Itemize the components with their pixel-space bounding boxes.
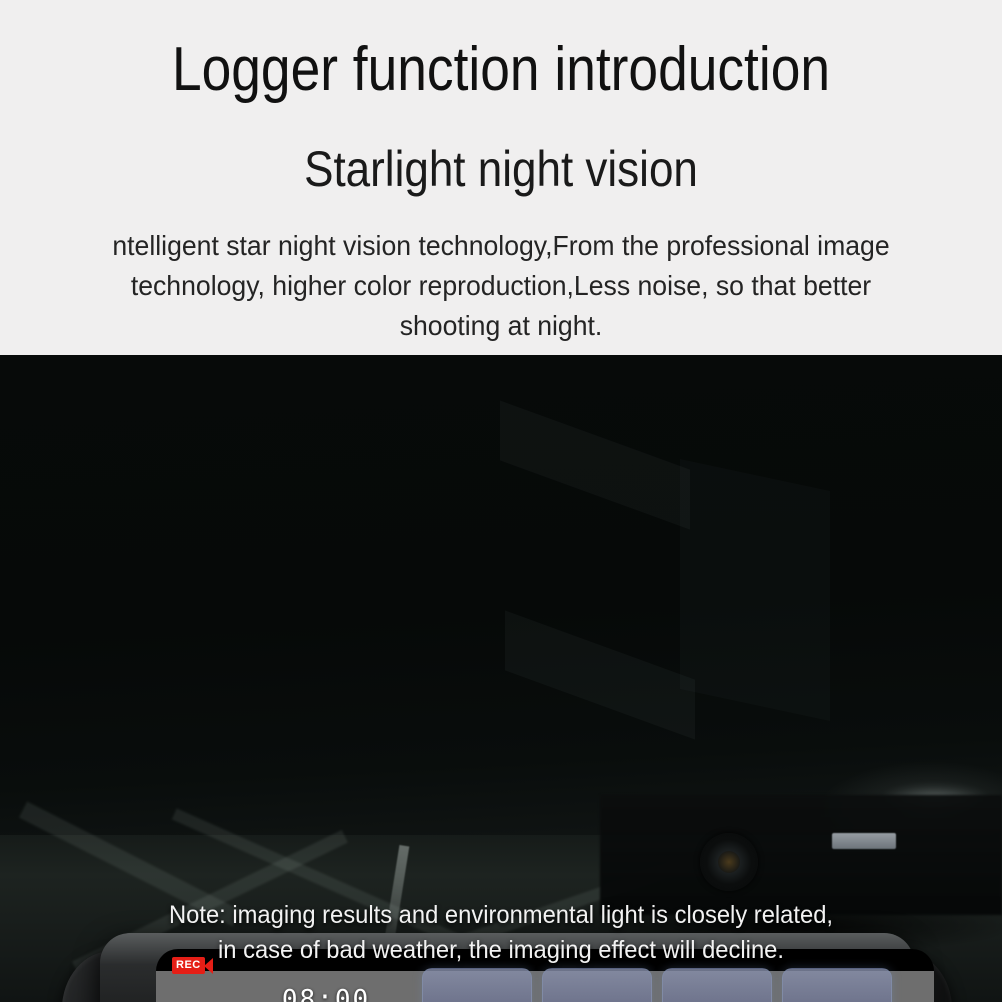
- night-scene-photo: REC 08:00 2017/07/01: [0, 355, 1002, 1002]
- background-wall-shape: [500, 400, 690, 529]
- background-wall-shape: [505, 610, 695, 739]
- menu-card-settings[interactable]: [782, 968, 892, 1002]
- car-wheel-hub: [718, 851, 740, 873]
- dashcam-menu: [418, 965, 934, 1002]
- description-line-2: technology, higher color reproduction,Le…: [82, 266, 920, 306]
- page-title: Logger function introduction: [70, 38, 932, 102]
- header-description: ntelligent star night vision technology,…: [82, 226, 920, 346]
- header-panel: Logger function introduction Starlight n…: [0, 0, 1002, 355]
- note-line-2: in case of bad weather, the imaging effe…: [25, 933, 977, 968]
- background-wall-shape: [680, 459, 830, 721]
- description-line-1: ntelligent star night vision technology,…: [82, 226, 920, 266]
- menu-card-photo[interactable]: [542, 968, 652, 1002]
- product-feature-slide: Logger function introduction Starlight n…: [0, 0, 1002, 1002]
- card-glass-sheen: [423, 969, 531, 1002]
- note-line-1: Note: imaging results and environmental …: [25, 898, 977, 933]
- dark-car-silhouette: [600, 795, 1002, 915]
- menu-card-files[interactable]: [662, 968, 772, 1002]
- card-glass-sheen: [783, 969, 891, 1002]
- footer-note: Note: imaging results and environmental …: [25, 898, 977, 968]
- description-line-3: shooting at night.: [82, 306, 920, 346]
- card-glass-sheen: [543, 969, 651, 1002]
- card-glass-sheen: [663, 969, 771, 1002]
- license-plate: [832, 833, 896, 849]
- menu-card-video[interactable]: [422, 968, 532, 1002]
- page-subtitle: Starlight night vision: [60, 142, 942, 196]
